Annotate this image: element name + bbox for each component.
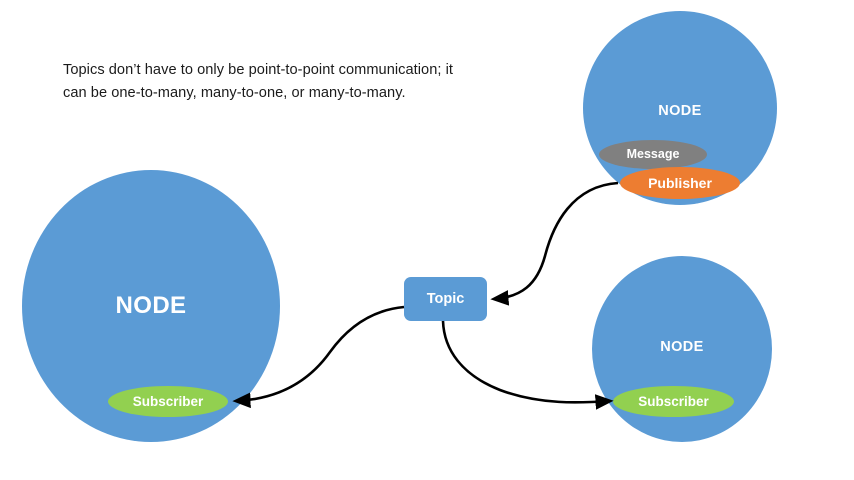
publisher-badge: Publisher [620, 167, 740, 199]
publisher-badge-label: Publisher [648, 176, 712, 190]
subscriber-badge-right-label: Subscriber [638, 395, 709, 409]
topic-box: Topic [404, 277, 487, 321]
node-bottom-right-label: NODE [592, 339, 772, 355]
node-left-label: NODE [22, 292, 280, 320]
topic-box-label: Topic [427, 291, 465, 307]
diagram-canvas: Topics don’t have to only be point-to-po… [0, 0, 854, 480]
arrow-topic-to-subscriber-right [443, 321, 610, 402]
node-top-right-label: NODE [583, 103, 777, 119]
subscriber-badge-right: Subscriber [613, 386, 734, 417]
arrow-publisher-to-topic [494, 183, 618, 299]
caption-text: Topics don’t have to only be point-to-po… [63, 59, 483, 104]
message-badge: Message [599, 140, 707, 169]
subscriber-badge-left: Subscriber [108, 386, 228, 417]
message-badge-label: Message [627, 148, 680, 161]
subscriber-badge-left-label: Subscriber [133, 395, 204, 409]
